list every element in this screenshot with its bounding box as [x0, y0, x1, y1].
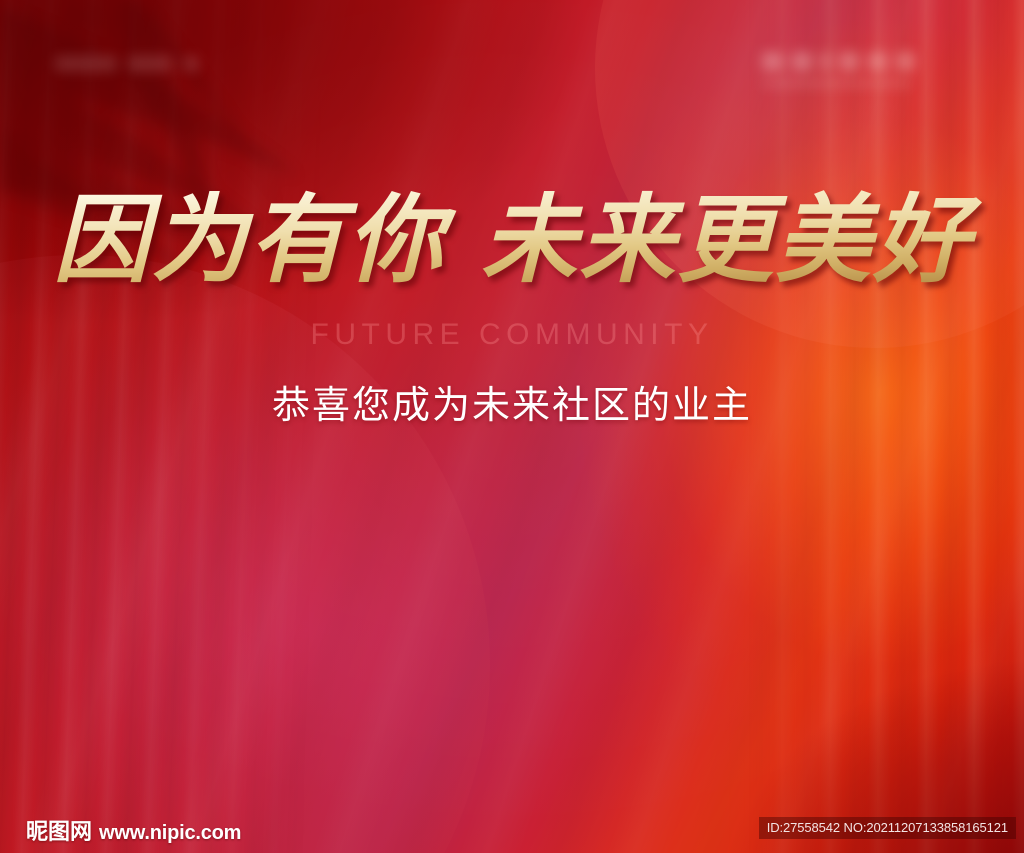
headline-part-2: 未来更美好 [481, 183, 971, 296]
site-logo-cjk: 昵图网 [26, 822, 92, 844]
chinese-subtitle: 恭喜您成为未来社区的业主 [0, 374, 1024, 429]
id-badge: ID:27558542 NO:20211207133858165121 [759, 817, 1016, 839]
poster-canvas: 因为有你未来更美好 FUTURE COMMUNITY 恭喜您成为未来社区的业主 … [0, 0, 1024, 853]
top-left-watermark [55, 55, 199, 72]
english-subtitle: FUTURE COMMUNITY [0, 318, 1024, 352]
site-watermark: 昵图网 www.nipic.com [26, 822, 241, 844]
headline: 因为有你未来更美好 [0, 188, 1024, 292]
headline-part-1: 因为有你 [53, 183, 445, 296]
site-logo-url: www.nipic.com [99, 823, 241, 844]
